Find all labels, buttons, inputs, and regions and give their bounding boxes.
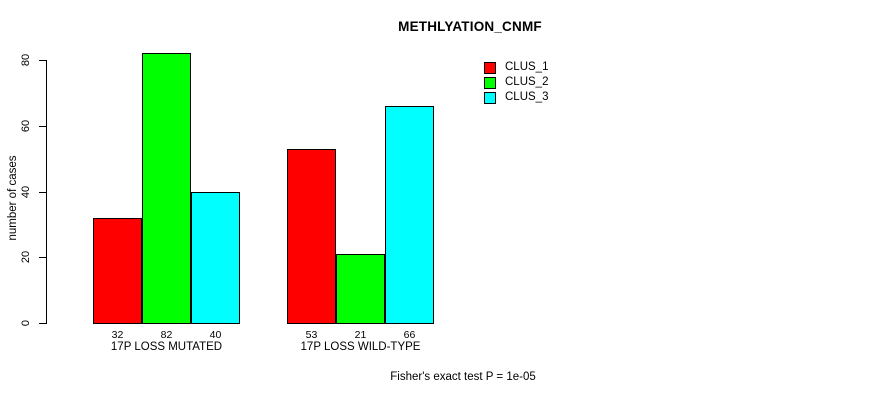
fisher-test-annotation: Fisher's exact test P = 1e-05: [363, 371, 563, 383]
y-axis-tick-label: 40: [16, 192, 36, 193]
x-axis-group-label: 17P LOSS WILD-TYPE: [301, 341, 421, 353]
bar-value-label: 53: [306, 329, 318, 341]
bar-value-label: 82: [161, 329, 173, 341]
y-axis-tick-label: 0: [16, 323, 36, 324]
y-axis-tick-mark: [39, 192, 46, 193]
bar-clus-2: [142, 53, 191, 324]
legend-item-label: CLUS_1: [505, 62, 548, 74]
bar-value-label: 66: [404, 329, 416, 341]
bar-clus-3: [191, 192, 240, 325]
bar-value-label: 21: [355, 329, 367, 341]
legend-item-label: CLUS_2: [505, 77, 548, 89]
y-axis-tick-mark: [39, 126, 46, 127]
bar-clus-1: [287, 149, 336, 324]
y-axis-tick-label: 80: [16, 60, 36, 61]
x-axis-group-label: 17P LOSS MUTATED: [111, 341, 222, 353]
y-axis-tick-mark: [39, 323, 46, 324]
bar-value-label: 40: [210, 329, 222, 341]
y-axis-tick-mark: [39, 257, 46, 258]
legend-color-swatch: [484, 77, 496, 89]
plot-area: 020406080 number of cases 32824017P LOSS…: [0, 0, 890, 400]
legend-color-swatch: [484, 92, 496, 104]
bar-clus-3: [385, 106, 434, 324]
chart-legend: CLUS_1CLUS_2CLUS_3: [484, 60, 548, 105]
legend-item: CLUS_3: [484, 90, 548, 105]
y-axis-tick-label: 20: [16, 257, 36, 258]
chart-figure: METHLYATION_CNMF 020406080 number of cas…: [0, 0, 890, 400]
bar-clus-2: [336, 254, 385, 324]
legend-item: CLUS_1: [484, 60, 548, 75]
y-axis-tick-mark: [39, 60, 46, 61]
y-axis-line: [46, 60, 47, 324]
legend-color-swatch: [484, 62, 496, 74]
y-axis-tick-label: 60: [16, 126, 36, 127]
bar-value-label: 32: [112, 329, 124, 341]
legend-item-label: CLUS_3: [505, 92, 548, 104]
legend-item: CLUS_2: [484, 75, 548, 90]
y-axis-title: number of cases: [7, 138, 19, 258]
bar-clus-1: [93, 218, 142, 324]
